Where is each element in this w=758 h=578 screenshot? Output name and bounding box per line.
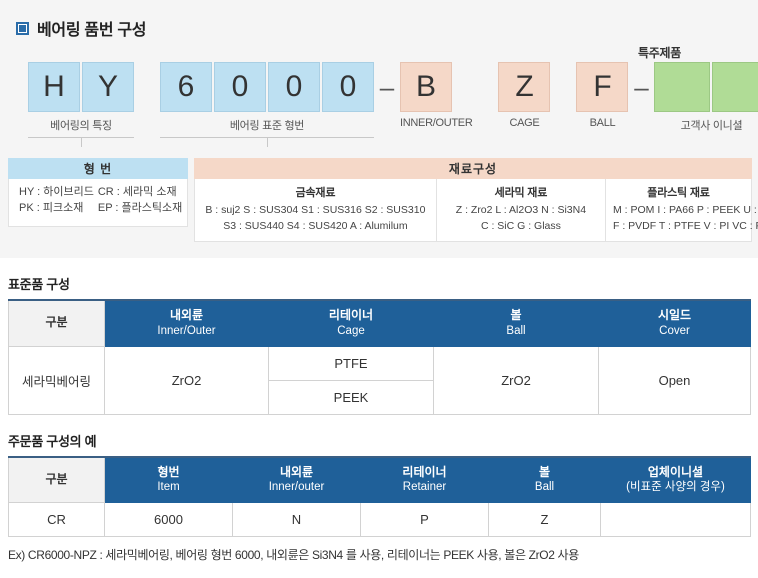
cell-cover: Open [599, 346, 751, 414]
material-line: B : suj2 S : SUS304 S1 : SUS316 S2 : SUS… [202, 203, 429, 219]
special-product-label: 특주제품 [638, 44, 681, 61]
header-ko: 형번 [157, 465, 179, 479]
cell-inner-outer: ZrO2 [105, 346, 269, 414]
code-boxes-feature: H Y [28, 62, 134, 112]
code-boxes-standard-model: 6 0 0 0 [160, 62, 374, 112]
legend-model-entry: EP : 플라스틱소재 [98, 201, 182, 217]
legend-model-block: 형 번 HY : 하이브리드 PK : 피크소재 CR : 세라믹 소재 EP … [8, 158, 188, 227]
example-note: Ex) CR6000-NPZ : 세라믹베어링, 베어링 형번 6000, 내외… [8, 546, 750, 563]
code-group-feature: H Y 베어링의 특징 [28, 62, 134, 146]
cell-ball: Z [489, 503, 601, 537]
separator-dash-2: – [628, 62, 654, 112]
code-char-box: Z [498, 62, 550, 112]
column-header-item: 형번 Item [105, 457, 233, 503]
table-header-row: 구분 형번 Item 내외륜 Inner/outer 리테이너 Retainer… [9, 457, 751, 503]
square-bullet-icon [16, 22, 29, 35]
column-header-gubun: 구분 [9, 457, 105, 503]
header-en: Inner/outer [235, 480, 358, 495]
header-en: Retainer [363, 480, 486, 495]
spacer-gap [134, 62, 160, 112]
code-char-box: 6 [160, 62, 212, 112]
bracket-feature [28, 137, 134, 146]
column-header-inner-outer: 내외륜 Inner/outer [233, 457, 361, 503]
legend-model-column-1: HY : 하이브리드 PK : 피크소재 [19, 185, 94, 219]
header-en: Inner/Outer [107, 324, 266, 339]
material-column-metal: 금속재료 B : suj2 S : SUS304 S1 : SUS316 S2 … [195, 179, 437, 241]
header-en: Item [107, 480, 230, 495]
legend-material-header: 재료구성 [194, 158, 752, 179]
code-group-inner-outer: B INNER/OUTER [400, 62, 472, 129]
code-char-box: F [576, 62, 628, 112]
material-line: M : POM I : PA66 P : PEEK U : U–PE [613, 203, 744, 219]
code-boxes-ball: F [576, 62, 628, 112]
code-char-box [712, 62, 758, 112]
spacer-gap [472, 62, 498, 112]
code-group-standard-model: 6 0 0 0 베어링 표준 형번 [160, 62, 374, 146]
column-header-retainer: 리테이너 Retainer [361, 457, 489, 503]
code-char-box: 0 [268, 62, 320, 112]
legend-model-body: HY : 하이브리드 PK : 피크소재 CR : 세라믹 소재 EP : 플라… [8, 179, 188, 227]
cell-gubun: CR [9, 503, 105, 537]
separator-dash-1: – [374, 62, 400, 112]
cell-cage-bottom: PEEK [269, 380, 434, 414]
table-row: 세라믹베어링 ZrO2 PTFE ZrO2 Open [9, 346, 751, 380]
column-header-ball: 볼 Ball [489, 457, 601, 503]
material-title-metal: 금속재료 [202, 184, 429, 200]
code-char-box: B [400, 62, 452, 112]
code-caption-customer-initial: 고객사 이니셜 [654, 117, 758, 133]
spacer-gap [550, 62, 576, 112]
code-char-box: Y [82, 62, 134, 112]
header-ko: 내외륜 [170, 308, 203, 322]
header-ko: 내외륜 [280, 465, 313, 479]
header-en: Cage [271, 324, 431, 339]
column-header-cage: 리테이너 Cage [269, 300, 434, 346]
order-products-section: 주문품 구성의 예 구분 형번 Item 내외륜 Inner/outer 리테이… [0, 431, 758, 564]
code-caption-cage: CAGE [498, 117, 550, 129]
part-number-code-row: H Y 베어링의 특징 6 0 0 0 베어링 표준 형번 – B INNER/… [28, 62, 758, 146]
code-char-box [654, 62, 710, 112]
header-en: (비표준 사양의 경우) [603, 480, 748, 495]
bearing-part-number-panel: 베어링 품번 구성 특주제품 H Y 베어링의 특징 6 0 0 0 베어링 표… [0, 0, 758, 258]
legend-material-body: 금속재료 B : suj2 S : SUS304 S1 : SUS316 S2 … [194, 179, 752, 242]
code-group-ball: F BALL [576, 62, 628, 129]
header-ko: 리테이너 [329, 308, 373, 322]
material-line: S3 : SUS440 S4 : SUS420 A : Alumilum [202, 219, 429, 235]
header-en: Ball [491, 480, 598, 495]
code-group-cage: Z CAGE [498, 62, 550, 129]
order-products-table: 구분 형번 Item 내외륜 Inner/outer 리테이너 Retainer… [8, 456, 751, 538]
header-ko: 리테이너 [402, 465, 446, 479]
cell-ball: ZrO2 [434, 346, 599, 414]
code-boxes-cage: Z [498, 62, 550, 112]
standard-products-section: 표준품 구성 구분 내외륜 Inner/Outer 리테이너 Cage 볼 [0, 274, 758, 415]
cell-cage-top: PTFE [269, 346, 434, 380]
code-char-box: H [28, 62, 80, 112]
cell-item: 6000 [105, 503, 233, 537]
table-row: CR 6000 N P Z [9, 503, 751, 537]
column-header-inner-outer: 내외륜 Inner/Outer [105, 300, 269, 346]
code-char-box: 0 [214, 62, 266, 112]
legend-model-entry: HY : 하이브리드 [19, 185, 94, 201]
code-caption-feature: 베어링의 특징 [28, 117, 134, 133]
material-title-ceramic: 세라믹 재료 [444, 184, 598, 200]
cell-inner-outer: N [233, 503, 361, 537]
material-line: Z : Zro2 L : Al2O3 N : Si3N4 [444, 203, 598, 219]
standard-products-table: 구분 내외륜 Inner/Outer 리테이너 Cage 볼 Ball 시일드 … [8, 299, 751, 415]
code-caption-inner-outer: INNER/OUTER [400, 117, 472, 129]
legend-model-header: 형 번 [8, 158, 188, 179]
standard-section-title: 표준품 구성 [8, 274, 750, 293]
legend-material-block: 재료구성 금속재료 B : suj2 S : SUS304 S1 : SUS31… [194, 158, 752, 242]
header-ko: 구분 [45, 472, 67, 486]
legend-model-column-2: CR : 세라믹 소재 EP : 플라스틱소재 [98, 185, 182, 219]
header-ko: 업체이니셜 [648, 465, 703, 479]
header-ko: 볼 [539, 465, 550, 479]
panel-title: 베어링 품번 구성 [16, 16, 146, 40]
header-en: Cover [601, 324, 748, 339]
cell-gubun: 세라믹베어링 [9, 346, 105, 414]
cell-retainer: P [361, 503, 489, 537]
column-header-gubun: 구분 [9, 300, 105, 346]
column-header-cover: 시일드 Cover [599, 300, 751, 346]
column-header-company-initial: 업체이니셜 (비표준 사양의 경우) [601, 457, 751, 503]
cell-company-initial [601, 503, 751, 537]
code-boxes-inner-outer: B [400, 62, 472, 112]
table-header-row: 구분 내외륜 Inner/Outer 리테이너 Cage 볼 Ball 시일드 … [9, 300, 751, 346]
material-column-plastic: 플라스틱 재료 M : POM I : PA66 P : PEEK U : U–… [606, 179, 751, 241]
code-caption-standard-model: 베어링 표준 형번 [160, 117, 374, 133]
header-ko: 구분 [45, 315, 67, 329]
legend-model-entry: PK : 피크소재 [19, 201, 94, 217]
column-header-ball: 볼 Ball [434, 300, 599, 346]
header-en: Ball [436, 324, 596, 339]
material-title-plastic: 플라스틱 재료 [613, 184, 744, 200]
header-ko: 볼 [510, 308, 521, 322]
order-section-title: 주문품 구성의 예 [8, 431, 750, 450]
bracket-standard-model [160, 137, 374, 146]
legend-model-entry: CR : 세라믹 소재 [98, 185, 182, 201]
code-char-box: 0 [322, 62, 374, 112]
material-column-ceramic: 세라믹 재료 Z : Zro2 L : Al2O3 N : Si3N4 C : … [437, 179, 606, 241]
header-ko: 시일드 [658, 308, 691, 322]
code-boxes-customer-initial [654, 62, 758, 112]
panel-title-text: 베어링 품번 구성 [37, 16, 146, 40]
code-caption-ball: BALL [576, 117, 628, 129]
legend-row: 형 번 HY : 하이브리드 PK : 피크소재 CR : 세라믹 소재 EP … [8, 158, 752, 242]
code-group-customer-initial: 고객사 이니셜 [654, 62, 758, 133]
material-line: F : PVDF T : PTFE V : PI VC : PI+C [613, 219, 744, 235]
material-line: C : SiC G : Glass [444, 219, 598, 235]
